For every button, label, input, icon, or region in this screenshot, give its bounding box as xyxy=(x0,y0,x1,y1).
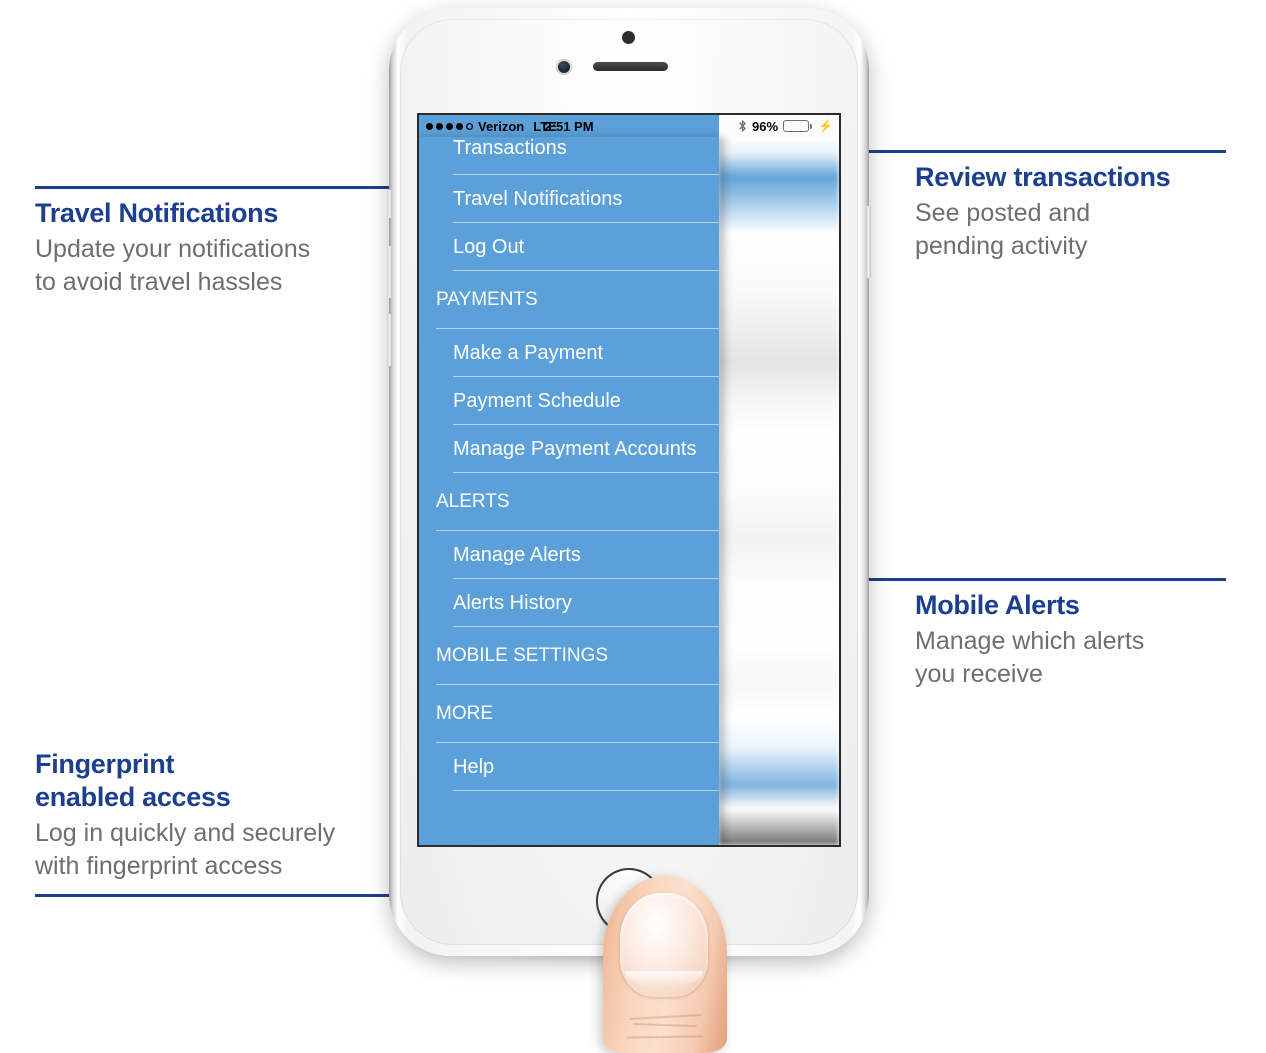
signal-strength-icon xyxy=(426,123,473,130)
menu-item-make-a-payment[interactable]: Make a Payment xyxy=(419,329,719,377)
phone-screen: Verizon LTE 2:51 PM 96% ⚡ xyxy=(419,115,839,845)
callout-title: Review transactions xyxy=(915,161,1226,194)
callout-rule xyxy=(915,578,1226,581)
front-camera-icon xyxy=(556,59,572,75)
volume-up-button[interactable] xyxy=(387,246,392,298)
menu-item-travel-notifications[interactable]: Travel Notifications xyxy=(419,175,719,223)
menu-item-payment-schedule[interactable]: Payment Schedule xyxy=(419,377,719,425)
smartphone-device: Verizon LTE 2:51 PM 96% ⚡ xyxy=(389,8,869,956)
menu-item-transactions[interactable]: Transactions xyxy=(419,137,719,175)
callout-review-transactions: Review transactions See posted and pendi… xyxy=(915,150,1226,263)
menu-item-manage-payment-accounts[interactable]: Manage Payment Accounts xyxy=(419,425,719,473)
navigation-drawer: TransactionsTravel NotificationsLog OutP… xyxy=(419,137,719,845)
status-bar-right: 96% ⚡ xyxy=(719,115,839,137)
menu-item-label: Transactions xyxy=(453,137,567,160)
menu-section-alerts: ALERTS xyxy=(419,473,719,531)
menu-item-manage-alerts[interactable]: Manage Alerts xyxy=(419,531,719,579)
callout-fingerprint: Fingerprint enabled access Log in quickl… xyxy=(35,740,435,883)
menu-item-label: Travel Notifications xyxy=(453,188,622,211)
callout-title: Fingerprint enabled access xyxy=(35,748,435,814)
menu-item-label: Manage Alerts xyxy=(453,544,581,567)
fingerprint-touch-finger xyxy=(603,876,727,1053)
charging-bolt-icon: ⚡ xyxy=(818,120,833,132)
callout-body: Manage which alerts you receive xyxy=(915,625,1226,691)
power-button[interactable] xyxy=(866,206,871,278)
menu-item-label: Manage Payment Accounts xyxy=(453,438,696,461)
callout-rule xyxy=(915,150,1226,153)
menu-section-more: MORE xyxy=(419,685,719,743)
proximity-sensor-icon xyxy=(622,31,635,44)
menu-section-mobile-settings: MOBILE SETTINGS xyxy=(419,627,719,685)
earpiece-speaker-icon xyxy=(593,62,668,71)
menu-item-label: Help xyxy=(453,756,494,779)
battery-icon xyxy=(783,120,812,132)
menu-section-label: ALERTS xyxy=(436,491,510,513)
carrier-label: Verizon xyxy=(478,119,524,134)
volume-down-button[interactable] xyxy=(387,314,392,366)
poster-canvas: Travel Notifications Update your notific… xyxy=(0,0,1266,1053)
menu-section-label: MORE xyxy=(436,703,493,725)
blurred-background-content xyxy=(719,137,839,845)
menu-section-label: PAYMENTS xyxy=(436,289,538,311)
silent-switch-button[interactable] xyxy=(387,190,392,218)
menu-item-label: Log Out xyxy=(453,236,524,259)
callout-mobile-alerts: Mobile Alerts Manage which alerts you re… xyxy=(915,578,1226,691)
callout-body: Update your notifications to avoid trave… xyxy=(35,233,425,299)
battery-percent-label: 96% xyxy=(752,119,778,134)
callout-body: See posted and pending activity xyxy=(915,197,1226,263)
callout-title: Mobile Alerts xyxy=(915,589,1226,622)
menu-item-log-out[interactable]: Log Out xyxy=(419,223,719,271)
callout-rule xyxy=(35,186,425,189)
menu-item-label: Payment Schedule xyxy=(453,390,621,413)
screen-content-area: TransactionsTravel NotificationsLog OutP… xyxy=(419,137,839,845)
network-type-label: LTE xyxy=(533,119,557,134)
callout-body: Log in quickly and securely with fingerp… xyxy=(35,817,435,883)
bluetooth-icon xyxy=(738,119,747,133)
menu-item-help[interactable]: Help xyxy=(419,743,719,791)
menu-item-alerts-history[interactable]: Alerts History xyxy=(419,579,719,627)
menu-item-label: Alerts History xyxy=(453,592,572,615)
menu-section-label: MOBILE SETTINGS xyxy=(436,645,608,667)
status-bar-left: Verizon LTE 2:51 PM xyxy=(419,115,719,137)
menu-section-payments: PAYMENTS xyxy=(419,271,719,329)
status-bar: Verizon LTE 2:51 PM 96% ⚡ xyxy=(419,115,839,137)
callout-travel-notifications: Travel Notifications Update your notific… xyxy=(35,186,425,299)
callout-title: Travel Notifications xyxy=(35,197,425,230)
menu-item-label: Make a Payment xyxy=(453,342,603,365)
